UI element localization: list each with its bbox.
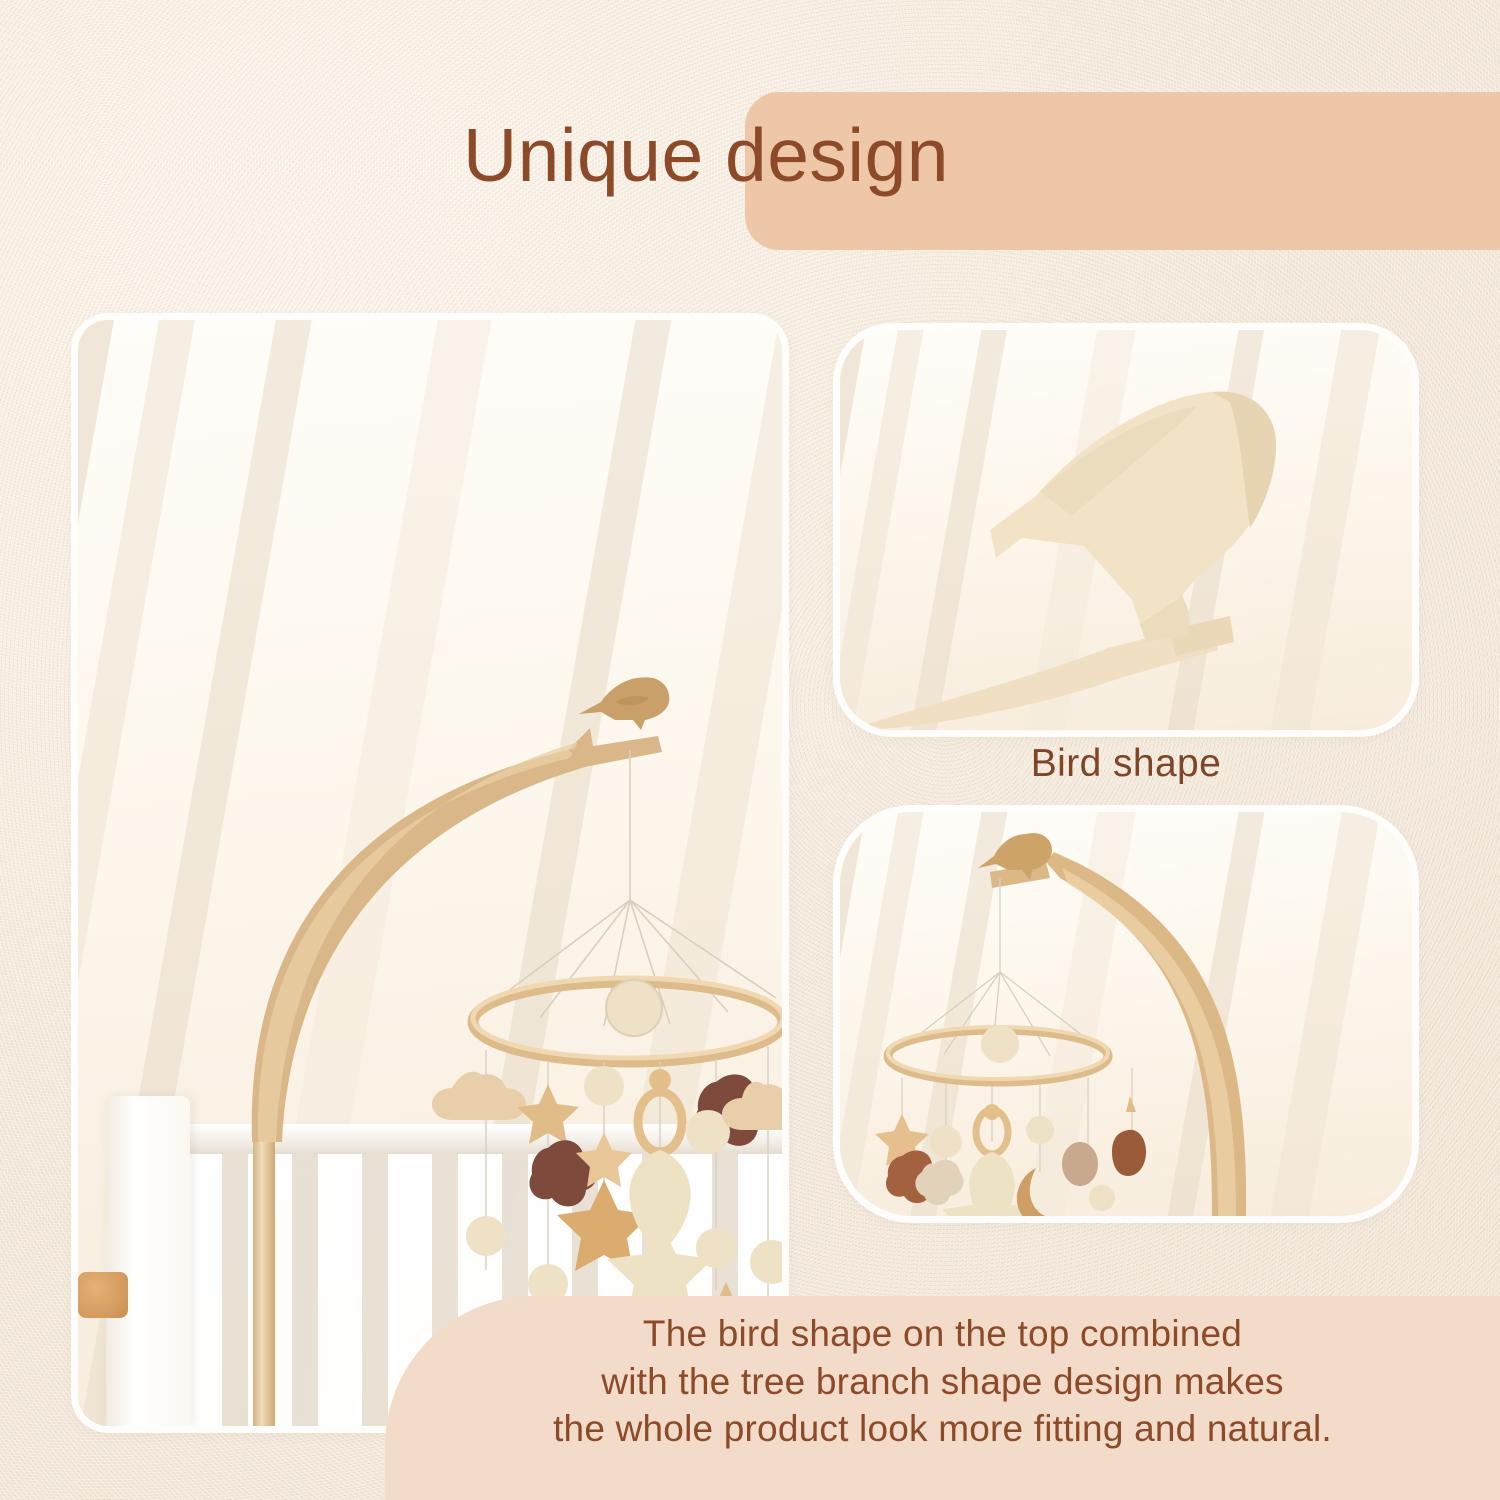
caption-text: The bird shape on the top combined with …: [385, 1310, 1500, 1453]
crib-corner-post: [106, 1096, 190, 1426]
caption-line-1: The bird shape on the top combined: [385, 1310, 1500, 1358]
crib-wooden-knob: [78, 1272, 128, 1318]
mobile-illustration: [840, 812, 1412, 1216]
bird-shape-label: Bird shape: [840, 742, 1412, 786]
bird-closeup-photo: [840, 330, 1412, 730]
caption-panel: The bird shape on the top combined with …: [385, 1296, 1500, 1500]
page-title: Unique design: [463, 112, 949, 198]
full-mobile-photo: [840, 812, 1412, 1216]
bird-closeup-icon: [840, 330, 1412, 730]
bird-icon: [575, 672, 675, 744]
main-product-photo: [78, 320, 782, 1426]
caption-line-3: the whole product look more fitting and …: [385, 1405, 1500, 1453]
caption-line-2: with the tree branch shape design makes: [385, 1358, 1500, 1406]
